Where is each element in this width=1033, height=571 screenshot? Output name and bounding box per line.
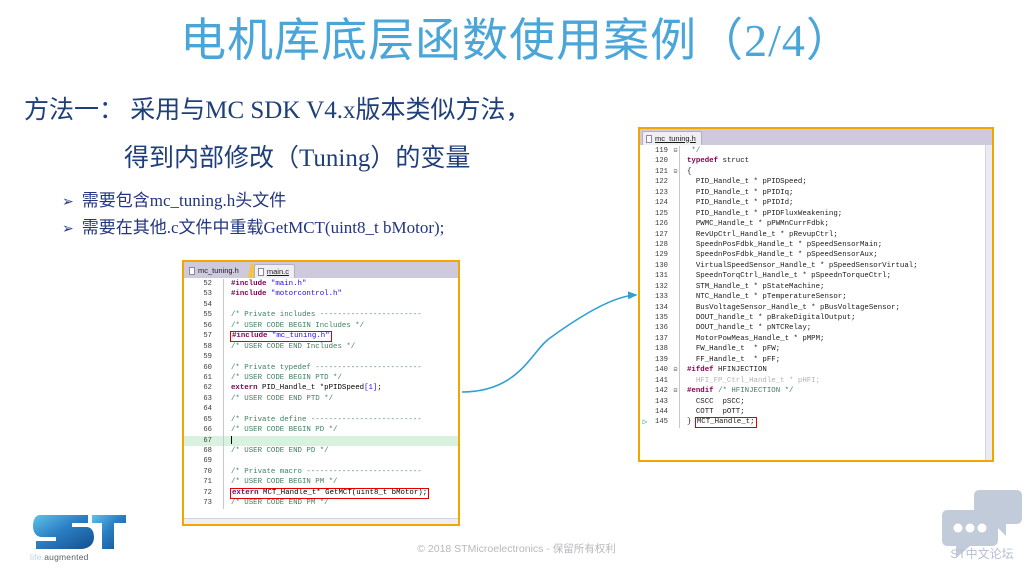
tabbar-filler — [295, 264, 458, 278]
editor-tab-main-c[interactable]: main.c — [254, 264, 295, 278]
code-text: PID_Handle_t * pPIDFluxWeakening; — [684, 209, 992, 219]
code-line: 128 SpeednPosFdbk_Handle_t * pSpeedSenso… — [640, 240, 992, 250]
code-text: #endif /* HFINJECTION */ — [684, 386, 992, 396]
code-line: ▷145} MCT_Handle_t; — [640, 417, 992, 427]
gutter-divider — [223, 352, 228, 362]
code-text: /* USER CODE BEGIN Includes */ — [228, 321, 458, 331]
code-text: HFI_FP_Ctrl_Handle_t * pHFI; — [684, 376, 992, 386]
line-number: 127 — [650, 230, 672, 240]
code-fold-toggle-icon[interactable]: ⊟ — [672, 167, 679, 177]
bullet-arrow-icon: ➢ — [62, 192, 74, 210]
code-text: PID_Handle_t * pPIDId; — [684, 198, 992, 208]
code-fold-toggle-icon[interactable]: ⊟ — [672, 386, 679, 396]
code-text: extern MCT_Handle_t* GetMCT(uint8_t bMot… — [228, 488, 458, 498]
code-line: 136 DOUT_handle_t * pNTCRelay; — [640, 323, 992, 333]
code-text: FW_Handle_t * pFW; — [684, 344, 992, 354]
code-line: 127 RevUpCtrl_Handle_t * pRevupCtrl; — [640, 230, 992, 240]
code-line: 131 SpeednTorqCtrl_Handle_t * pSpeednTor… — [640, 271, 992, 281]
code-text — [228, 436, 458, 446]
line-number: 61 — [194, 373, 216, 383]
code-text: /* Private includes --------------------… — [228, 310, 458, 320]
bullet-item-1: ➢ 需要在其他.c文件中重载GetMCT(uint8_t bMotor); — [62, 217, 444, 239]
st-logo-tagline: life.augmented — [30, 552, 89, 562]
line-number: 52 — [194, 279, 216, 289]
code-text: COTT pOTT; — [684, 407, 992, 417]
tab-label: mc_tuning.h — [655, 132, 696, 146]
tab-label: mc_tuning.h — [198, 264, 239, 278]
code-line: 67 — [184, 436, 458, 446]
code-line: 144 COTT pOTT; — [640, 407, 992, 417]
code-line: 52#include "main.h" — [184, 279, 458, 289]
code-line: 53#include "motorcontrol.h" — [184, 289, 458, 299]
code-line: 140⊟#ifdef HFINJECTION — [640, 365, 992, 375]
line-number: 71 — [194, 477, 216, 487]
line-number: 53 — [194, 289, 216, 299]
line-number: 124 — [650, 198, 672, 208]
line-number: 69 — [194, 456, 216, 466]
code-text: #include "motorcontrol.h" — [228, 289, 458, 299]
page-title: 电机库底层函数使用案例（2/4） — [0, 12, 1033, 70]
code-line: 137 MotorPowMeas_Handle_t * pMPM; — [640, 334, 992, 344]
mc-tuning-h-editor-panel: mc_tuning.h 119⊟ */120typedef struct121⊟… — [638, 127, 994, 462]
line-number: 55 — [194, 310, 216, 320]
code-fold-toggle-icon[interactable]: ⊟ — [672, 146, 679, 156]
line-number: 62 — [194, 383, 216, 393]
gutter-divider — [223, 300, 228, 310]
gutter-divider — [223, 456, 228, 466]
code-text: } MCT_Handle_t; — [684, 417, 992, 427]
code-line: 119⊟ */ — [640, 146, 992, 156]
code-line: 120typedef struct — [640, 156, 992, 166]
tagline-life: life. — [30, 552, 44, 562]
code-text: CSCC pSCC; — [684, 397, 992, 407]
editor-tabbar: mc_tuning.h — [640, 129, 992, 145]
code-text: /* Private macro -----------------------… — [228, 467, 458, 477]
line-number: 54 — [194, 300, 216, 310]
code-line: 66/* USER CODE BEGIN PD */ — [184, 425, 458, 435]
subtitle-line-2: 得到内部修改（Tuning）的变量 — [124, 143, 470, 175]
tagline-augmented: augmented — [44, 552, 88, 562]
editor-status-strip — [184, 518, 458, 524]
code-line: 124 PID_Handle_t * pPIDId; — [640, 198, 992, 208]
file-icon — [646, 135, 652, 143]
bullet-label: 需要在其他.c文件中重载GetMCT(uint8_t bMotor); — [82, 217, 445, 239]
code-line: 55/* Private includes ------------------… — [184, 310, 458, 320]
highlight-box: extern MCT_Handle_t* GetMCT(uint8_t bMot… — [231, 489, 428, 498]
code-text: /* USER CODE END PD */ — [228, 446, 458, 456]
bullet-label: 需要包含mc_tuning.h头文件 — [82, 190, 286, 212]
code-text: /* USER CODE END PTD */ — [228, 394, 458, 404]
editor-tab-mc-tuning-h[interactable]: mc_tuning.h — [642, 131, 702, 145]
code-text: /* USER CODE BEGIN PTD */ — [228, 373, 458, 383]
code-text: SpeednPosFdbk_Handle_t * pSpeedSensorAux… — [684, 250, 992, 260]
code-line: 61/* USER CODE BEGIN PTD */ — [184, 373, 458, 383]
code-fold-toggle-icon[interactable]: ⊟ — [672, 365, 679, 375]
code-line: 65/* Private define --------------------… — [184, 415, 458, 425]
code-text: #ifdef HFINJECTION — [684, 365, 992, 375]
code-line: 68/* USER CODE END PD */ — [184, 446, 458, 456]
line-number: 120 — [650, 156, 672, 166]
line-number: 57 — [194, 331, 216, 341]
watermark-label: ST中文论坛 — [936, 545, 1028, 562]
code-text: PWMC_Handle_t * pPWMnCurrFdbk; — [684, 219, 992, 229]
line-number: 128 — [650, 240, 672, 250]
code-line: 138 FW_Handle_t * pFW; — [640, 344, 992, 354]
code-line: 121⊟{ — [640, 167, 992, 177]
code-line: 134 BusVoltageSensor_Handle_t * pBusVolt… — [640, 303, 992, 313]
main-c-editor-panel: mc_tuning.h main.c 52#include "main.h"53… — [182, 260, 460, 526]
code-text: BusVoltageSensor_Handle_t * pBusVoltageS… — [684, 303, 992, 313]
code-line: 135 DOUT_handle_t * pBrakeDigitalOutput; — [640, 313, 992, 323]
code-line: 56/* USER CODE BEGIN Includes */ — [184, 321, 458, 331]
code-text: /* USER CODE END PM */ — [228, 498, 458, 508]
line-number: 68 — [194, 446, 216, 456]
code-line: 122 PID_Handle_t * pPIDSpeed; — [640, 177, 992, 187]
subtitle-line-1: 方法一： 采用与MC SDK V4.x版本类似方法， — [24, 95, 531, 127]
code-line: 139 FF_Handle_t * pFF; — [640, 355, 992, 365]
code-text: MotorPowMeas_Handle_t * pMPM; — [684, 334, 992, 344]
line-number: 121 — [650, 167, 672, 177]
vertical-scrollbar[interactable] — [985, 145, 992, 460]
highlight-box: MCT_Handle_t; — [696, 418, 756, 427]
code-text: NTC_Handle_t * pTemperatureSensor; — [684, 292, 992, 302]
bullet-item-0: ➢ 需要包含mc_tuning.h头文件 — [62, 190, 286, 212]
editor-tabbar: mc_tuning.h main.c — [184, 262, 458, 278]
code-text: STM_Handle_t * pStateMachine; — [684, 282, 992, 292]
file-icon — [189, 267, 195, 275]
code-text: FF_Handle_t * pFF; — [684, 355, 992, 365]
code-content-area[interactable]: 119⊟ */120typedef struct121⊟{122 PID_Han… — [640, 145, 992, 428]
file-icon — [258, 268, 264, 276]
line-number: 56 — [194, 321, 216, 331]
code-line: 125 PID_Handle_t * pPIDFluxWeakening; — [640, 209, 992, 219]
code-text: */ — [684, 146, 992, 156]
highlight-box: #include "mc_tuning.h" — [231, 332, 331, 341]
code-text: RevUpCtrl_Handle_t * pRevupCtrl; — [684, 230, 992, 240]
slide-canvas: 电机库底层函数使用案例（2/4） 方法一： 采用与MC SDK V4.x版本类似… — [0, 0, 1033, 571]
line-number: 60 — [194, 363, 216, 373]
code-text: /* Private typedef ---------------------… — [228, 363, 458, 373]
code-text: DOUT_handle_t * pNTCRelay; — [684, 323, 992, 333]
code-line: 132 STM_Handle_t * pStateMachine; — [640, 282, 992, 292]
code-line: 54 — [184, 300, 458, 310]
line-number: 73 — [194, 498, 216, 508]
gutter-divider — [223, 404, 228, 414]
code-text: /* USER CODE END Includes */ — [228, 342, 458, 352]
code-text: extern PID_Handle_t *pPIDSpeed[1]; — [228, 383, 458, 393]
code-content-area[interactable]: 52#include "main.h"53#include "motorcont… — [184, 278, 458, 509]
line-number: 64 — [194, 404, 216, 414]
code-line: 58/* USER CODE END Includes */ — [184, 342, 458, 352]
code-text: #include "mc_tuning.h" — [228, 331, 458, 341]
code-line: 64 — [184, 404, 458, 414]
code-line: 62extern PID_Handle_t *pPIDSpeed[1]; — [184, 383, 458, 393]
code-line: 133 NTC_Handle_t * pTemperatureSensor; — [640, 292, 992, 302]
code-line: 143 CSCC pSCC; — [640, 397, 992, 407]
line-number: 66 — [194, 425, 216, 435]
code-line: 141 HFI_FP_Ctrl_Handle_t * pHFI; — [640, 376, 992, 386]
code-line: 72extern MCT_Handle_t* GetMCT(uint8_t bM… — [184, 488, 458, 498]
code-line: 126 PWMC_Handle_t * pPWMnCurrFdbk; — [640, 219, 992, 229]
code-text: SpeednTorqCtrl_Handle_t * pSpeednTorqueC… — [684, 271, 992, 281]
code-text: VirtualSpeedSensor_Handle_t * pSpeedSens… — [684, 261, 992, 271]
copyright-footer: © 2018 STMicroelectronics - 保留所有权利 — [0, 541, 1033, 556]
tabbar-filler — [702, 131, 992, 145]
code-text: { — [684, 167, 992, 177]
line-number: 125 — [650, 209, 672, 219]
line-number: 59 — [194, 352, 216, 362]
code-text: /* USER CODE BEGIN PD */ — [228, 425, 458, 435]
code-text: #include "main.h" — [228, 279, 458, 289]
code-text: DOUT_handle_t * pBrakeDigitalOutput; — [684, 313, 992, 323]
code-line: 60/* Private typedef -------------------… — [184, 363, 458, 373]
code-line: 59 — [184, 352, 458, 362]
code-text: PID_Handle_t * pPIDIq; — [684, 188, 992, 198]
code-line: 142⊟#endif /* HFINJECTION */ — [640, 386, 992, 396]
code-line: 123 PID_Handle_t * pPIDIq; — [640, 188, 992, 198]
line-number: 70 — [194, 467, 216, 477]
tab-label: main.c — [267, 265, 289, 279]
line-number: 122 — [650, 177, 672, 187]
code-line: 130 VirtualSpeedSensor_Handle_t * pSpeed… — [640, 261, 992, 271]
line-number: 65 — [194, 415, 216, 425]
code-line: 57#include "mc_tuning.h" — [184, 331, 458, 341]
line-number: 67 — [194, 436, 216, 446]
code-line: 63/* USER CODE END PTD */ — [184, 394, 458, 404]
line-number: 58 — [194, 342, 216, 352]
code-line: 69 — [184, 456, 458, 466]
editor-tab-mc-tuning-h[interactable]: mc_tuning.h — [186, 264, 244, 278]
code-text: PID_Handle_t * pPIDSpeed; — [684, 177, 992, 187]
code-text: SpeednPosFdbk_Handle_t * pSpeedSensorMai… — [684, 240, 992, 250]
code-line: 73/* USER CODE END PM */ — [184, 498, 458, 508]
code-line: 71/* USER CODE BEGIN PM */ — [184, 477, 458, 487]
code-text: typedef struct — [684, 156, 992, 166]
line-number: 123 — [650, 188, 672, 198]
flow-arrow-icon — [440, 250, 670, 430]
bullet-arrow-icon: ➢ — [62, 219, 74, 237]
code-text: /* USER CODE BEGIN PM */ — [228, 477, 458, 487]
line-number: 119 — [650, 146, 672, 156]
tab-slant-decoration — [244, 264, 254, 278]
code-text: /* Private define ----------------------… — [228, 415, 458, 425]
code-line: 70/* Private macro ---------------------… — [184, 467, 458, 477]
line-number: 126 — [650, 219, 672, 229]
line-number: 72 — [194, 488, 216, 498]
code-line: 129 SpeednPosFdbk_Handle_t * pSpeedSenso… — [640, 250, 992, 260]
line-number: 63 — [194, 394, 216, 404]
